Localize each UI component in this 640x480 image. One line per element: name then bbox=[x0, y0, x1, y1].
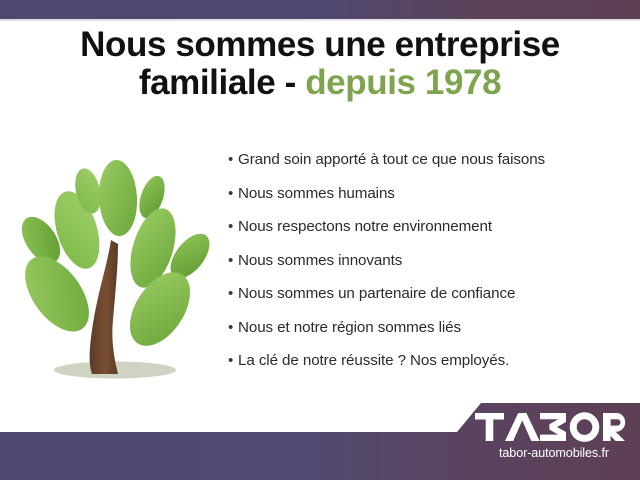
list-item: • Grand soin apporté à tout ce que nous … bbox=[228, 150, 628, 169]
list-item-label: Nous sommes innovants bbox=[238, 251, 402, 270]
list-item-label: Nous et notre région sommes liés bbox=[238, 318, 461, 337]
list-item-label: Nous sommes un partenaire de confiance bbox=[238, 284, 515, 303]
headline-line-2-green: depuis 1978 bbox=[305, 63, 501, 102]
list-item: • Nous respectons notre environnement bbox=[228, 217, 628, 236]
bullet-marker-icon: • bbox=[228, 318, 238, 337]
page-title: Nous sommes une entreprise familiale - d… bbox=[0, 26, 640, 102]
list-item: • Nous et notre région sommes liés bbox=[228, 318, 628, 337]
tree-illustration bbox=[14, 152, 224, 390]
tree-leaf bbox=[97, 159, 139, 237]
list-item-label: Nous sommes humains bbox=[238, 184, 395, 203]
bullet-marker-icon: • bbox=[228, 150, 238, 169]
top-band-hairline bbox=[0, 19, 640, 21]
brand-website: tabor-automobiles.fr bbox=[474, 446, 634, 460]
brand-logo[interactable]: tabor-automobiles.fr bbox=[474, 410, 634, 460]
bullet-marker-icon: • bbox=[228, 184, 238, 203]
list-item-label: Nous respectons notre environnement bbox=[238, 217, 492, 236]
list-item: • Nous sommes innovants bbox=[228, 251, 628, 270]
list-item: • La clé de notre réussite ? Nos employé… bbox=[228, 351, 628, 370]
list-item: • Nous sommes humains bbox=[228, 184, 628, 203]
list-item-label: Grand soin apporté à tout ce que nous fa… bbox=[238, 150, 545, 169]
headline-line-2: familiale - depuis 1978 bbox=[0, 64, 640, 102]
list-item-label: La clé de notre réussite ? Nos employés. bbox=[238, 351, 509, 370]
bullet-marker-icon: • bbox=[228, 251, 238, 270]
headline-line-2-black: familiale - bbox=[139, 63, 305, 102]
list-item: • Nous sommes un partenaire de confiance bbox=[228, 284, 628, 303]
tabor-wordmark bbox=[474, 410, 626, 444]
headline-line-1: Nous sommes une entreprise bbox=[80, 25, 560, 64]
bullet-marker-icon: • bbox=[228, 217, 238, 236]
top-accent-band bbox=[0, 0, 640, 19]
bullet-marker-icon: • bbox=[228, 351, 238, 370]
benefits-list: • Grand soin apporté à tout ce que nous … bbox=[228, 150, 628, 385]
bullet-marker-icon: • bbox=[228, 284, 238, 303]
